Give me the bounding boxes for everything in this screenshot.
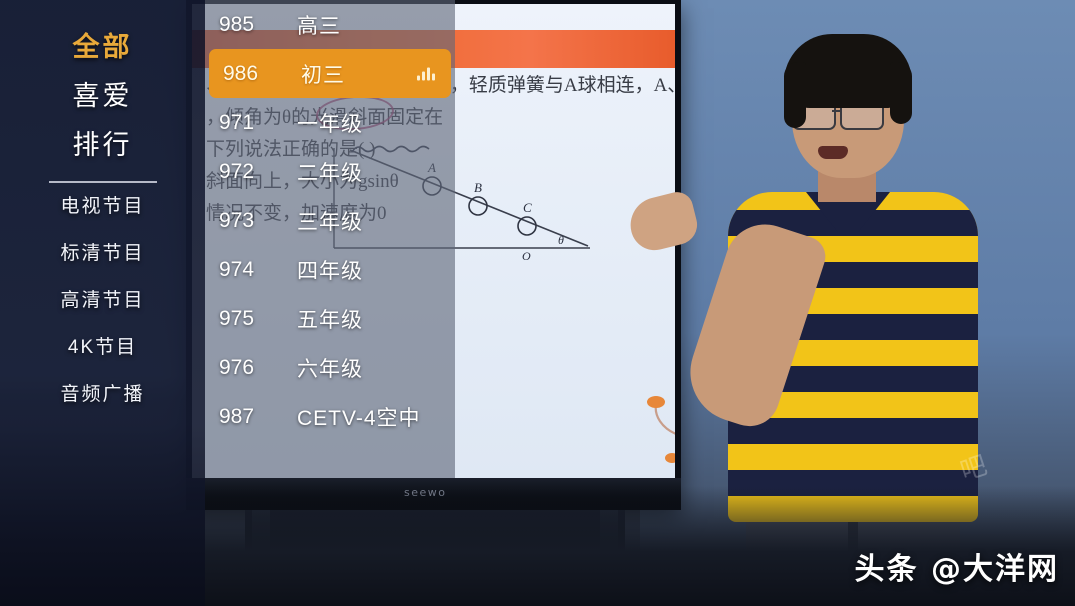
- sidebar-item-hd-programs[interactable]: 高清节目: [0, 291, 205, 310]
- signal-bars-icon: [417, 67, 435, 80]
- sidebar-item-audio-broadcast[interactable]: 音频广播: [0, 385, 205, 404]
- channel-name: 三年级: [297, 206, 363, 236]
- channel-name: 高三: [297, 10, 341, 40]
- channel-number: 986: [209, 62, 301, 86]
- channel-name: 六年级: [297, 353, 363, 383]
- sidebar-divider: [49, 181, 157, 183]
- channel-row[interactable]: 975五年级: [205, 294, 455, 343]
- sidebar-item-4k-programs[interactable]: 4K节目: [0, 338, 205, 357]
- channel-number: 975: [205, 307, 297, 331]
- channel-name: 四年级: [297, 255, 363, 285]
- channel-name: 二年级: [297, 157, 363, 187]
- channel-row[interactable]: 976六年级: [205, 343, 455, 392]
- channel-row[interactable]: 973三年级: [205, 196, 455, 245]
- channel-row[interactable]: 972二年级: [205, 147, 455, 196]
- channel-row[interactable]: 971一年级: [205, 98, 455, 147]
- sidebar-tab-all[interactable]: 全部: [0, 34, 205, 61]
- channel-row[interactable]: 987CETV-4空中: [205, 392, 455, 441]
- svg-text:B: B: [474, 180, 482, 195]
- svg-text:C: C: [523, 200, 532, 215]
- channel-list[interactable]: 985高三986初三971一年级972二年级973三年级974四年级975五年级…: [205, 0, 455, 478]
- sidebar-tab-ranking[interactable]: 排行: [0, 132, 205, 159]
- channel-name: 初三: [301, 59, 345, 89]
- svg-text:θ: θ: [558, 233, 564, 247]
- svg-text:O: O: [522, 249, 531, 263]
- sidebar-tab-favorites[interactable]: 喜爱: [0, 83, 205, 110]
- channel-name: CETV-4空中: [297, 402, 421, 432]
- teacher-mouth: [818, 146, 848, 159]
- floral-decoration: [632, 364, 675, 478]
- channel-number: 987: [205, 405, 297, 429]
- source-watermark: 头条 @大洋网: [855, 544, 1059, 588]
- channel-name: 一年级: [297, 108, 363, 138]
- sidebar-item-sd-programs[interactable]: 标清节目: [0, 244, 205, 263]
- channel-row[interactable]: 974四年级: [205, 245, 455, 294]
- channel-number: 976: [205, 356, 297, 380]
- channel-number: 985: [205, 13, 297, 37]
- sidebar-item-tv-programs[interactable]: 电视节目: [0, 197, 205, 216]
- channel-name: 五年级: [297, 304, 363, 334]
- channel-number: 972: [205, 160, 297, 184]
- channel-number: 974: [205, 258, 297, 282]
- channel-row[interactable]: 986初三: [209, 49, 451, 98]
- tv-screen: 、A、B、C三球的质量均为m，轻质弹簧与A球相连，A、B间 ，倾角为θ的光滑斜面…: [0, 0, 1075, 606]
- channel-number: 971: [205, 111, 297, 135]
- channel-row[interactable]: 985高三: [205, 0, 455, 49]
- sidebar: 全部 喜爱 排行 电视节目 标清节目 高清节目 4K节目 音频广播: [0, 0, 205, 606]
- channel-number: 973: [205, 209, 297, 233]
